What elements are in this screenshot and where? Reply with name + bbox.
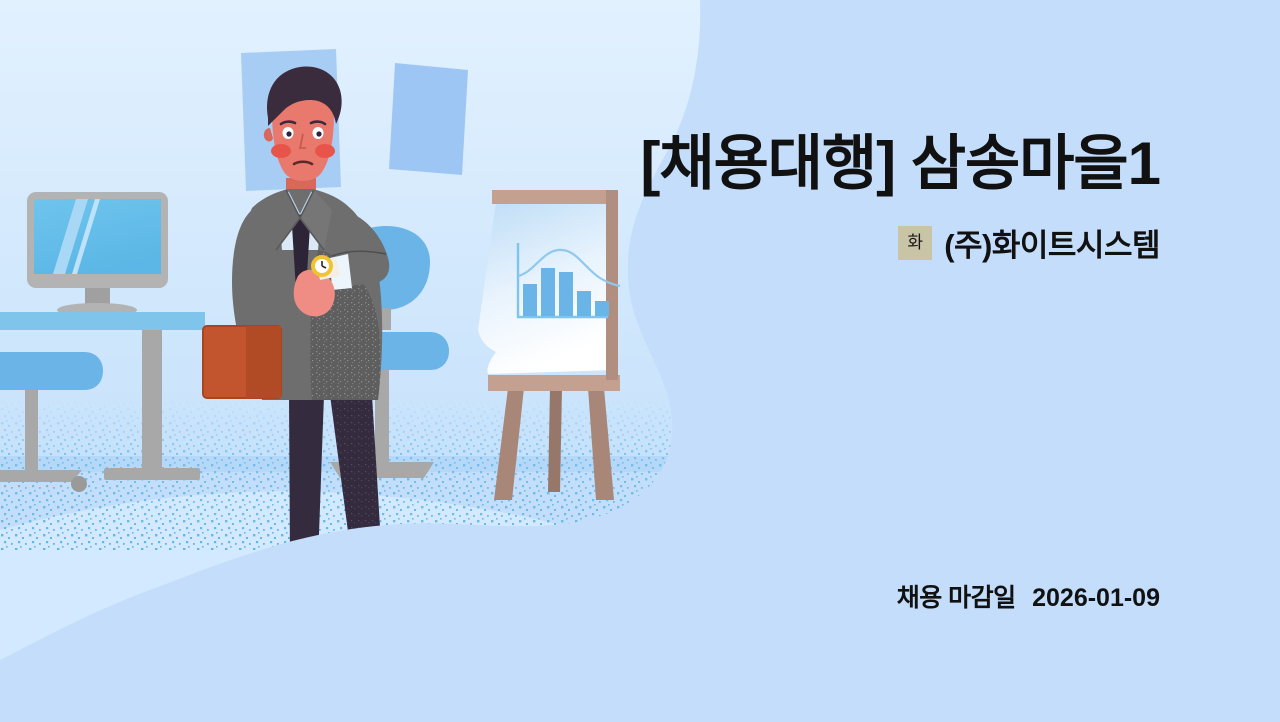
deadline-label: 채용 마감일 <box>897 584 1016 612</box>
easel-tray <box>488 375 620 391</box>
man-leg-left <box>289 395 324 562</box>
company-logo-badge: 화 <box>898 226 932 260</box>
desk-foot <box>104 468 200 480</box>
deadline-date: 2026-01-09 <box>1032 584 1160 612</box>
man-shoe-notch <box>366 572 380 578</box>
man-shoe-right <box>348 560 401 592</box>
monitor-screen <box>34 199 161 274</box>
easel-top-rail <box>492 190 618 204</box>
job-posting-banner: [채용대행] 삼송마을1 화 (주)화이트시스템 채용 마감일 2026-01-… <box>0 0 1280 722</box>
chart-bar <box>541 268 555 316</box>
left-chair-seat <box>0 352 103 390</box>
man-cheek-left <box>271 144 291 158</box>
chart-bar <box>523 284 537 316</box>
man-cheek-right <box>315 144 335 158</box>
desk-leg <box>142 330 162 475</box>
man-pupil-right <box>316 131 321 136</box>
chart-bar <box>577 291 591 316</box>
left-chair-base <box>0 470 82 482</box>
company-name: (주)화이트시스템 <box>944 220 1160 265</box>
company-row: 화 (주)화이트시스템 <box>430 220 1160 265</box>
chart-bar <box>559 272 573 316</box>
briefcase <box>203 326 281 398</box>
easel-leg-center <box>548 388 562 492</box>
chart-bar <box>595 301 609 316</box>
left-chair-stem <box>25 390 38 475</box>
deadline-row: 채용 마감일 2026-01-09 <box>430 578 1160 614</box>
left-chair-wheel <box>71 476 87 492</box>
page-title: [채용대행] 삼송마을1 <box>640 130 1160 197</box>
wall-poster-small <box>389 63 468 175</box>
man-shoe-left <box>268 560 322 592</box>
desk-top <box>0 312 205 330</box>
man-pupil-left <box>286 131 291 136</box>
briefcase-flap <box>246 326 281 398</box>
